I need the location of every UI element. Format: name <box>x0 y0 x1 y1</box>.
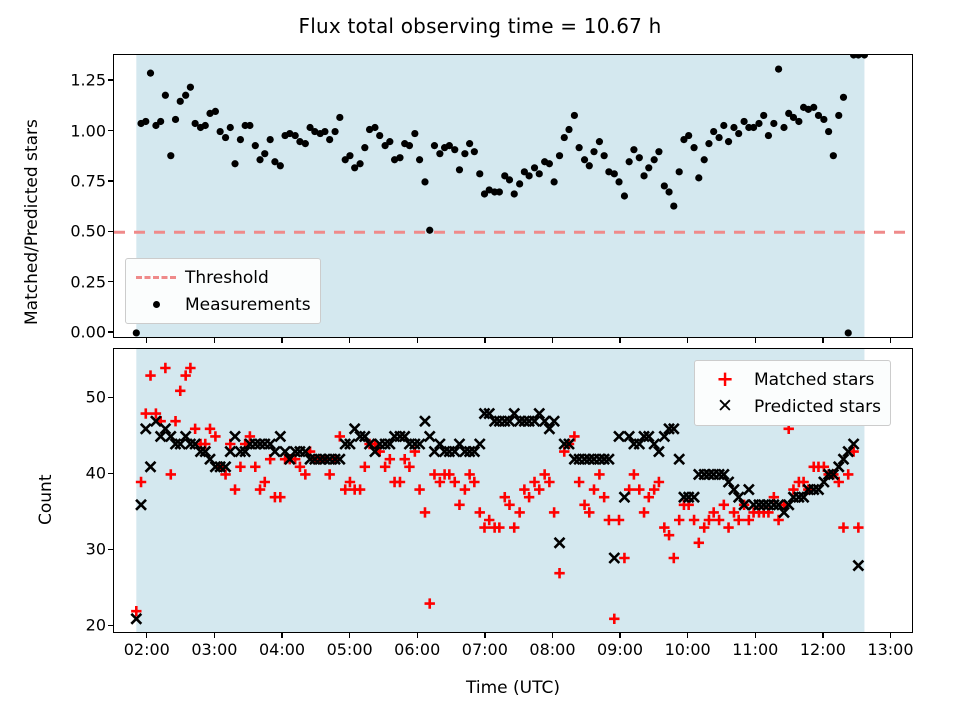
xtick-mark-top-panel <box>822 338 823 343</box>
xtick-mark-top-panel <box>349 338 350 343</box>
xtick-mark-top-panel <box>687 338 688 343</box>
xtick-mark <box>552 633 553 638</box>
xtick-label: 02:00 <box>124 640 170 659</box>
ytick-label: 0.50 <box>44 222 106 241</box>
xtick-mark <box>214 633 215 638</box>
xtick-mark <box>349 633 350 638</box>
legend-label-predicted-stars: Predicted stars <box>748 397 881 417</box>
ytick-mark <box>108 281 113 282</box>
xtick-label: 10:00 <box>665 640 711 659</box>
xtick-mark-top-panel <box>619 338 620 343</box>
bottom-panel-xlabel: Time (UTC) <box>113 678 913 698</box>
xtick-label: 06:00 <box>394 640 440 659</box>
xtick-label: 11:00 <box>732 640 778 659</box>
ytick-label: 0.75 <box>44 171 106 190</box>
ytick-mark <box>108 625 113 626</box>
xtick-label: 13:00 <box>867 640 913 659</box>
ytick-label: 0.00 <box>44 322 106 341</box>
xtick-label: 09:00 <box>597 640 643 659</box>
ytick-mark <box>108 130 113 131</box>
legend-item-matched-stars[interactable]: + Matched stars <box>702 366 881 393</box>
xtick-mark-top-panel <box>214 338 215 343</box>
xtick-label: 04:00 <box>259 640 305 659</box>
legend-item-predicted-stars[interactable]: ✕ Predicted stars <box>702 393 881 420</box>
xtick-mark <box>417 633 418 638</box>
xtick-mark-top-panel <box>755 338 756 343</box>
xtick-label: 12:00 <box>800 640 846 659</box>
xtick-mark-top-panel <box>484 338 485 343</box>
dot-marker-icon <box>133 294 179 316</box>
ytick-mark <box>108 397 113 398</box>
ytick-label: 40 <box>52 464 106 483</box>
page-title: Flux total observing time = 10.67 h <box>0 14 960 38</box>
xtick-mark <box>822 633 823 638</box>
ytick-mark <box>108 473 113 474</box>
ytick-label: 50 <box>52 388 106 407</box>
plus-marker-icon: + <box>702 369 748 391</box>
xtick-mark <box>755 633 756 638</box>
xtick-mark-top-panel <box>890 338 891 343</box>
xtick-mark <box>619 633 620 638</box>
xtick-mark-top-panel <box>146 338 147 343</box>
ytick-mark <box>108 331 113 332</box>
legend-item-threshold[interactable]: Threshold <box>133 264 311 291</box>
xtick-mark <box>484 633 485 638</box>
bottom-panel-legend[interactable]: + Matched stars ✕ Predicted stars <box>694 360 891 426</box>
ytick-mark <box>108 549 113 550</box>
legend-label-matched-stars: Matched stars <box>748 370 874 390</box>
xtick-mark-top-panel <box>552 338 553 343</box>
ytick-label: 0.25 <box>44 272 106 291</box>
ytick-label: 20 <box>52 616 106 635</box>
xtick-mark-top-panel <box>417 338 418 343</box>
xtick-mark <box>281 633 282 638</box>
cross-marker-icon: ✕ <box>702 396 748 418</box>
legend-label-measurements: Measurements <box>179 295 311 315</box>
ytick-mark <box>108 79 113 80</box>
ytick-mark <box>108 231 113 232</box>
xtick-mark-top-panel <box>281 338 282 343</box>
figure-canvas: Flux total observing time = 10.67 h Matc… <box>0 0 960 720</box>
ytick-label: 30 <box>52 540 106 559</box>
ytick-mark <box>108 180 113 181</box>
top-panel-legend[interactable]: Threshold Measurements <box>125 258 321 324</box>
xtick-label: 07:00 <box>462 640 508 659</box>
ytick-label: 1.25 <box>44 71 106 90</box>
xtick-label: 08:00 <box>529 640 575 659</box>
xtick-label: 05:00 <box>327 640 373 659</box>
xtick-label: 03:00 <box>191 640 237 659</box>
xtick-mark <box>687 633 688 638</box>
ytick-label: 1.00 <box>44 121 106 140</box>
legend-item-measurements[interactable]: Measurements <box>133 291 311 318</box>
legend-label-threshold: Threshold <box>179 268 269 288</box>
top-panel-ylabel: Matched/Predicted stars <box>22 119 42 325</box>
dashed-line-icon <box>133 267 179 289</box>
xtick-mark <box>890 633 891 638</box>
xtick-mark <box>146 633 147 638</box>
